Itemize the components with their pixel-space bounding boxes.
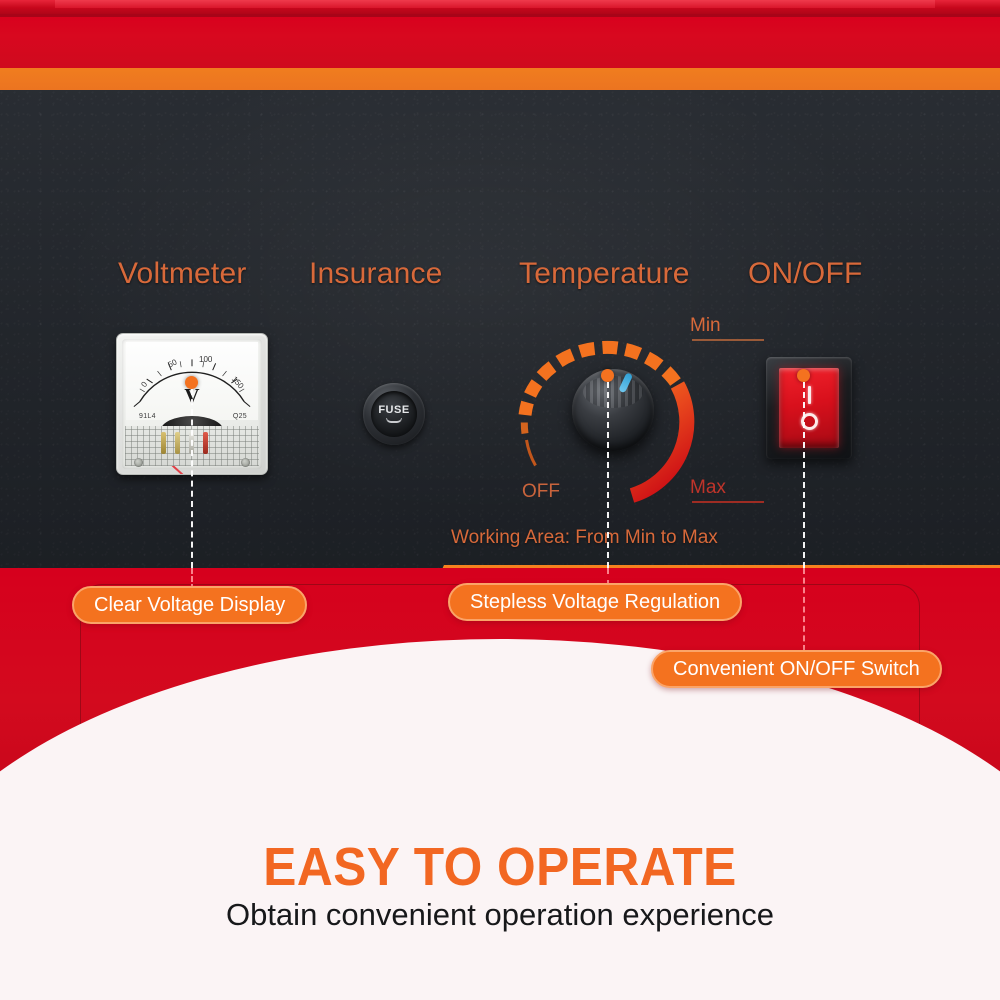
dial-knob[interactable]: [572, 369, 654, 451]
callout-convenient-onoff-switch[interactable]: Convenient ON/OFF Switch: [651, 650, 942, 688]
callout-clear-voltage-display[interactable]: Clear Voltage Display: [72, 586, 307, 624]
body-top-seam: [0, 0, 1000, 14]
callout-stepless-voltage-regulation[interactable]: Stepless Voltage Regulation: [448, 583, 742, 621]
panel-shading: [0, 90, 1000, 568]
callout-anchor-voltmeter: [185, 376, 198, 389]
voltmeter-marking-right: Q25: [233, 413, 247, 420]
voltmeter-screw-left: [134, 458, 143, 467]
voltmeter-marking-left: 91L4: [139, 413, 156, 420]
dial-label-max: Max: [690, 477, 726, 499]
power-on-icon: [808, 386, 811, 404]
voltmeter-terminal-1: [161, 432, 166, 454]
label-on-off: ON/OFF: [748, 257, 863, 291]
label-insurance: Insurance: [309, 257, 443, 291]
dial-label-min: Min: [690, 315, 721, 337]
rocker-face[interactable]: [779, 368, 839, 448]
callout-anchor-switch: [797, 369, 810, 382]
headline: EASY TO OPERATE: [40, 836, 960, 898]
body-upper-red: [0, 14, 1000, 68]
orange-accent-stripe: [0, 68, 1000, 90]
callout-line-dial: [607, 382, 609, 568]
subheadline: Obtain convenient operation experience: [0, 897, 1000, 933]
label-temperature: Temperature: [519, 257, 690, 291]
control-panel: Voltmeter Insurance Temperature ON/OFF: [0, 90, 1000, 568]
callout-line-voltmeter: [191, 389, 193, 568]
fuse-cap[interactable]: FUSE: [371, 391, 417, 437]
fuse-label: FUSE: [378, 405, 409, 416]
dial-label-off: OFF: [522, 481, 560, 503]
working-area-note: Working Area: From Min to Max: [451, 527, 718, 549]
product-feature-image: Voltmeter Insurance Temperature ON/OFF: [0, 0, 1000, 1000]
callout-line-switch-lower: [803, 568, 805, 651]
voltmeter-screw-right: [241, 458, 250, 467]
voltmeter-terminal-2: [175, 432, 180, 454]
voltmeter-tick-100: 100: [199, 355, 212, 364]
label-voltmeter: Voltmeter: [118, 257, 247, 291]
dial-max-underline: [692, 501, 764, 503]
temperature-dial[interactable]: OFF Min Max: [504, 305, 720, 513]
fuse-slot-icon: [386, 418, 402, 423]
dial-min-underline: [692, 339, 764, 341]
callout-anchor-dial: [601, 369, 614, 382]
voltmeter-terminal-4: [203, 432, 208, 454]
callout-line-switch: [803, 382, 805, 568]
fuse-holder[interactable]: FUSE: [363, 383, 425, 445]
